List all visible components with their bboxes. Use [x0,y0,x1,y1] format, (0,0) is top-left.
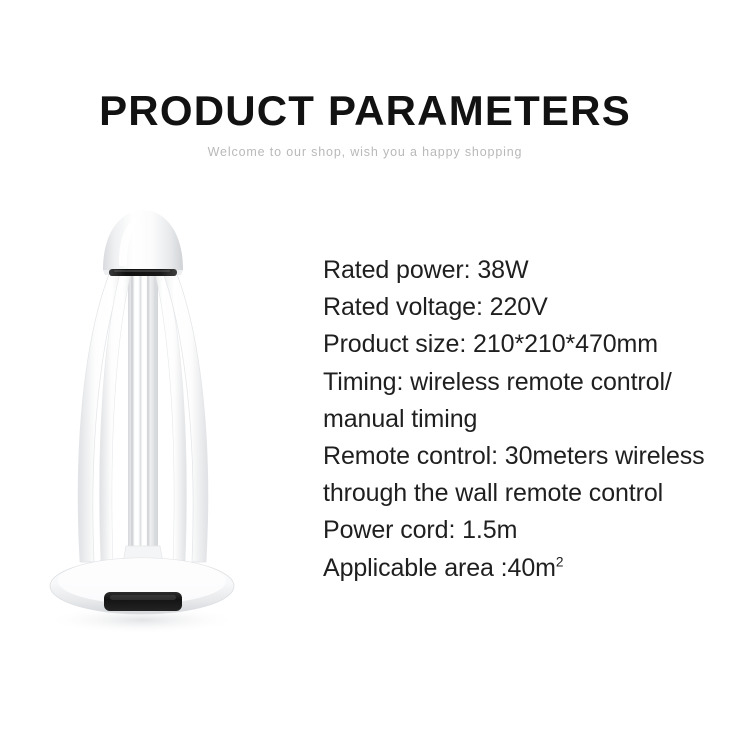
uv-tubes [128,258,158,588]
spec-line-remote-control: Remote control: 30meters wireless [323,438,723,475]
page-title: PRODUCT PARAMETERS [0,88,730,134]
spec-line-remote-control-cont: through the wall remote control [323,475,723,512]
spec-list: Rated power: 38W Rated voltage: 220V Pro… [323,252,723,587]
product-image [18,196,308,636]
control-panel-gloss [110,595,176,600]
vent-slot [109,269,177,276]
spec-line-power-cord: Power cord: 1.5m [323,512,723,549]
product-parameters-page: PRODUCT PARAMETERS Welcome to our shop, … [0,0,730,730]
spec-line-rated-power: Rated power: 38W [323,252,723,289]
spec-line-timing: Timing: wireless remote control/ [323,364,723,401]
applicable-area-superscript: 2 [556,554,564,569]
vent-slot-sheen [114,270,170,272]
dome-cap [103,210,183,270]
page-subtitle: Welcome to our shop, wish you a happy sh… [0,143,730,161]
spec-line-applicable-area: Applicable area :40m2 [323,550,723,587]
applicable-area-text: Applicable area :40m [323,554,556,582]
spec-line-timing-cont: manual timing [323,401,723,438]
spec-line-product-size: Product size: 210*210*470mm [323,326,723,363]
spec-line-rated-voltage: Rated voltage: 220V [323,289,723,326]
control-panel [104,592,182,611]
